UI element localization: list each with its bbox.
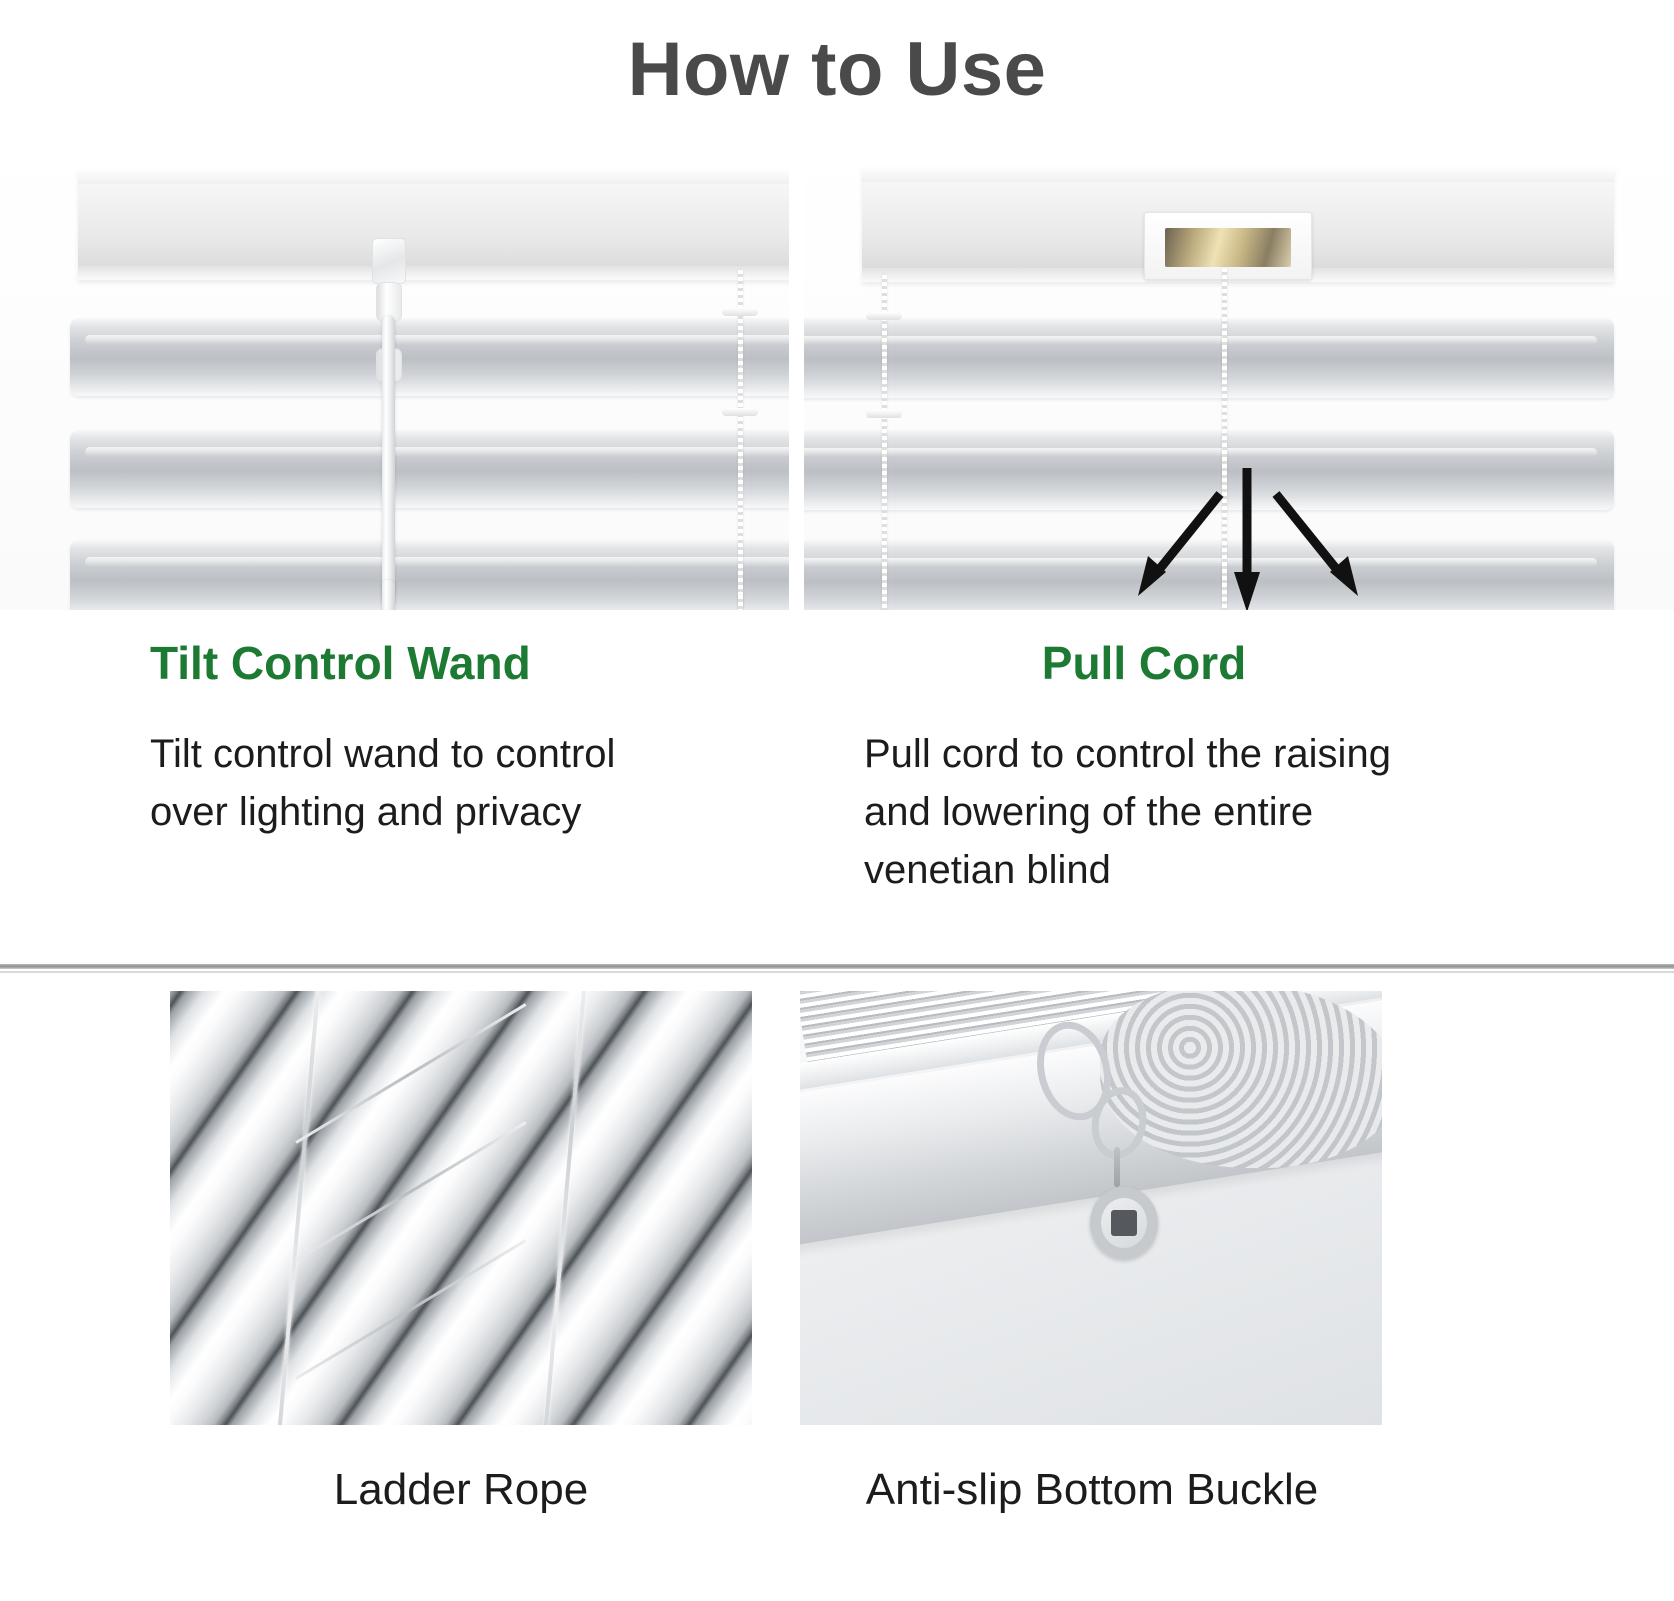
photo-divider [790,140,804,610]
title-bar: How to Use [0,0,1674,140]
cord-lock-mechanism [1165,228,1291,268]
caption-tilt-control-wand: Tilt Control Wand Tilt control wand to c… [0,610,790,965]
body-line: and lowering of the entire [864,783,1674,841]
cord-lock [1144,212,1312,280]
body-line: venetian blind [864,841,1674,899]
cord-line [738,270,743,610]
heading-tilt-control-wand: Tilt Control Wand [150,638,790,689]
section-divider-hairline [0,971,1674,973]
section-anti-slip-bottom-buckle: Anti-slip Bottom Buckle [800,991,1674,1515]
slat [70,540,790,610]
caption-anti-slip-bottom-buckle: Anti-slip Bottom Buckle [772,1465,1412,1515]
slat [70,430,790,508]
cord-line [882,275,887,610]
anti-slip-buckle [1090,1187,1158,1259]
body-pull-cord: Pull cord to control the raising and low… [864,725,1674,899]
body-tilt-control-wand: Tilt control wand to control over lighti… [150,725,790,841]
slats-diagonal-pattern [170,991,752,1425]
heading-pull-cord: Pull Cord [864,638,1424,689]
cord-node [866,312,902,320]
photo-anti-slip-bottom-buckle [800,991,1382,1425]
top-photo-strip [0,140,1674,610]
caption-ladder-rope: Ladder Rope [170,1465,752,1515]
top-caption-row: Tilt Control Wand Tilt control wand to c… [0,610,1674,965]
photo-ladder-rope [170,991,752,1425]
slat [804,318,1614,398]
bottom-photo-row: Ladder Rope Anti-slip Bottom Buckle [0,991,1674,1515]
cord-node [722,308,758,316]
cord-line-lower [738,595,743,610]
cord-node [722,408,758,416]
caption-gap [790,610,804,965]
tilt-control-wand [382,316,395,606]
wand-hook [372,238,406,284]
body-line: Tilt control wand to control [150,725,790,783]
body-line: Pull cord to control the raising [864,725,1674,783]
photo-pull-cord [804,140,1674,610]
buckle-stem [1114,1147,1120,1187]
section-divider [0,964,1674,969]
headrail [78,168,790,280]
pull-down-arrow-icon [1104,460,1394,610]
slat [70,318,790,396]
photo-tilt-control-wand [0,140,790,610]
caption-pull-cord: Pull Cord Pull cord to control the raisi… [804,610,1674,965]
page-title: How to Use [628,32,1047,108]
cord-node [866,410,902,418]
buckle-hole [1111,1210,1137,1236]
body-line: over lighting and privacy [150,783,790,841]
blind-illustration-right [804,140,1674,610]
blind-illustration-left [0,140,790,610]
how-to-use-infographic: How to Use [0,0,1674,1601]
section-ladder-rope: Ladder Rope [0,991,800,1515]
tilt-control-wand-lower [382,580,395,610]
